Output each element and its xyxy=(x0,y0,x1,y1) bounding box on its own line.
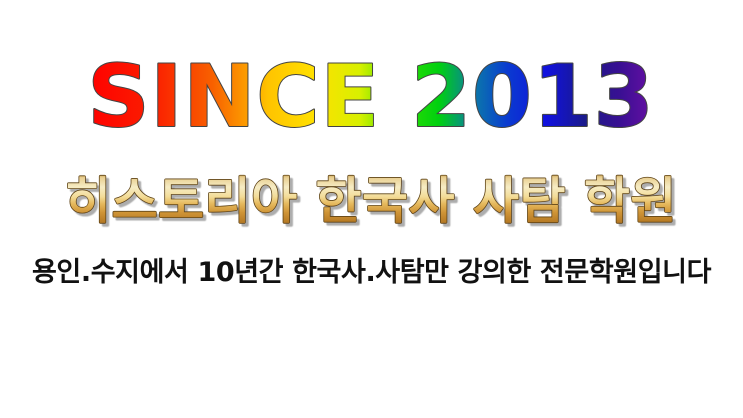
subtitle-text: 히스토리아 한국사 사탐 학원 xyxy=(65,172,677,230)
tagline-text: 용인.수지에서 10년간 한국사.사탐만 강의한 전문학원입니다 xyxy=(32,259,711,286)
tagline-row: 용인.수지에서 10년간 한국사.사탐만 강의한 전문학원입니다 xyxy=(0,252,743,292)
subtitle-svg: 히스토리아 한국사 사탐 학원 xyxy=(0,172,743,234)
headline-svg: SINCE 2013 xyxy=(0,56,743,152)
promo-banner: SINCE 2013 히스토리아 한국사 사탐 학 xyxy=(0,0,743,418)
blank-lower-area xyxy=(0,300,743,418)
subtitle-row: 히스토리아 한국사 사탐 학원 xyxy=(0,172,743,234)
headline-text: SINCE 2013 xyxy=(87,47,654,147)
headline-row: SINCE 2013 xyxy=(0,56,743,152)
